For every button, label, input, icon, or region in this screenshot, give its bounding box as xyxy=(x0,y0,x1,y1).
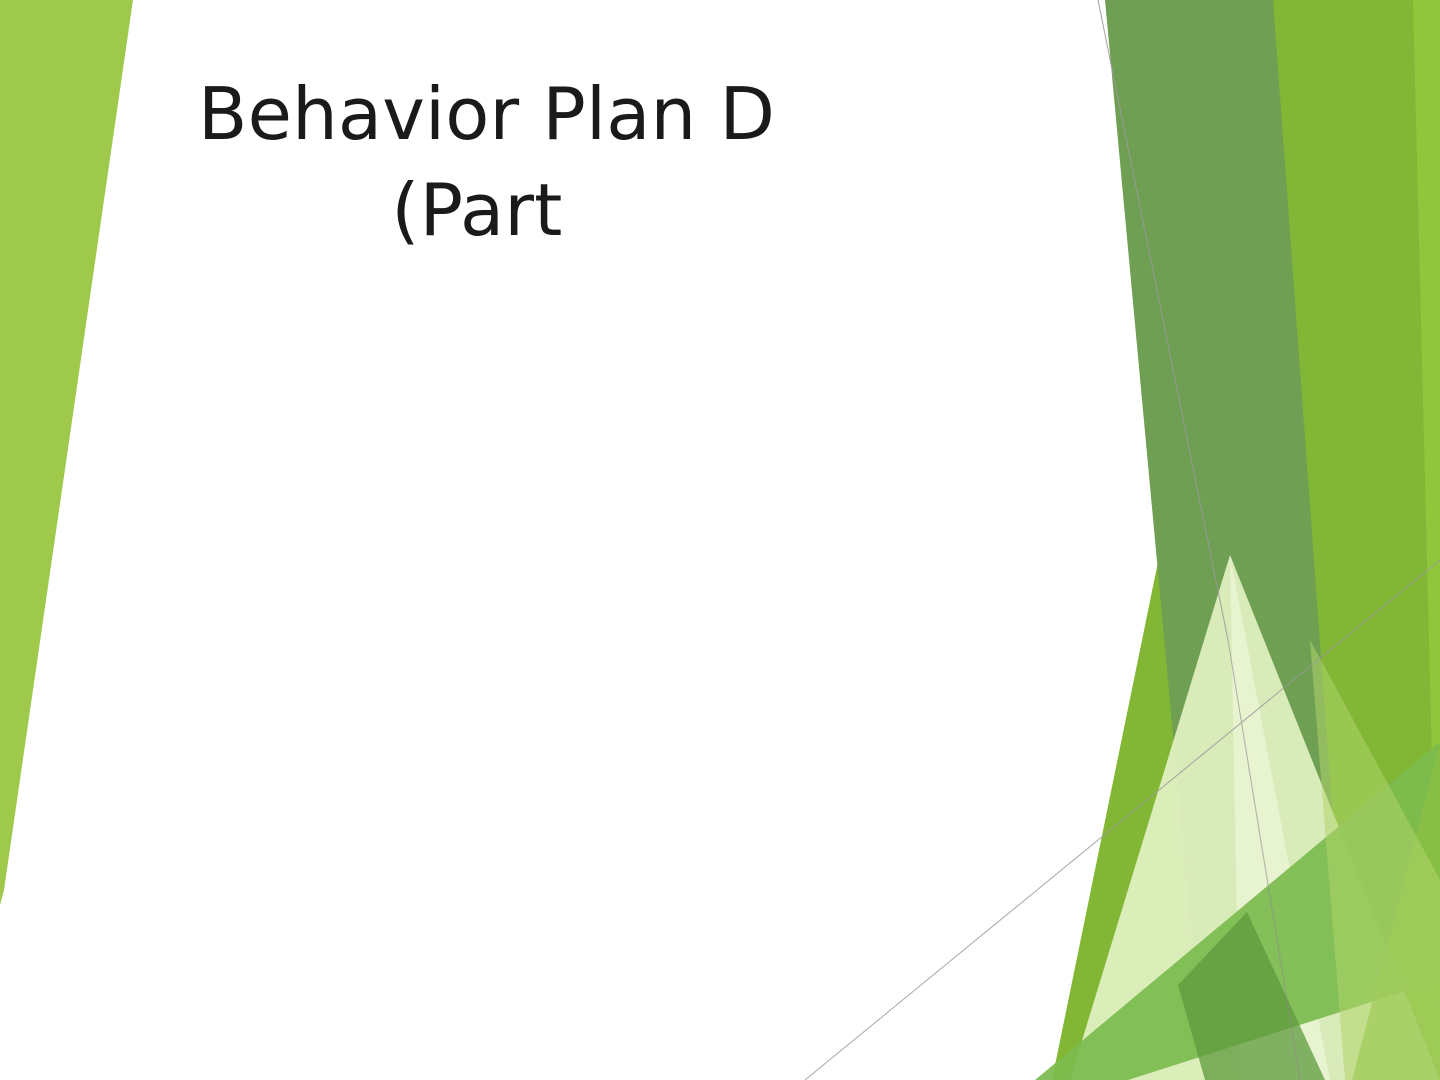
slide-title[interactable]: Behavior Plan D (Part xyxy=(196,66,756,258)
slide-title-line-1: Behavior Plan D xyxy=(198,66,756,162)
slide-canvas: Behavior Plan D (Part xyxy=(0,0,1440,1080)
slide-title-line-2: (Part xyxy=(198,162,756,258)
